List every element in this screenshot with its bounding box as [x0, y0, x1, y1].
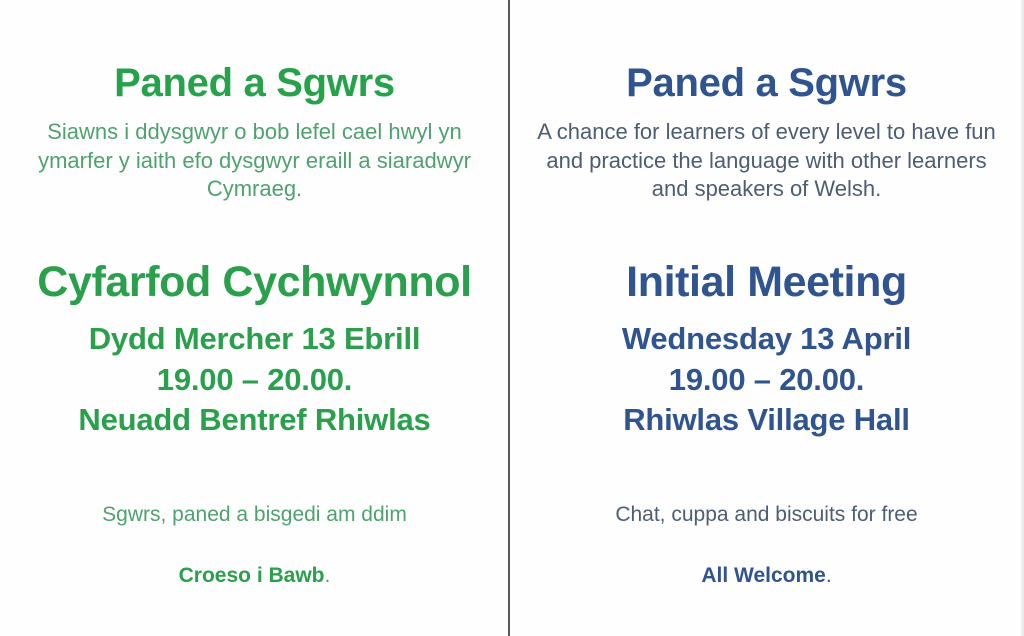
welsh-note-text: Sgwrs, paned a bisgedi am ddim: [102, 502, 407, 527]
english-note-text: Chat, cuppa and biscuits for free: [615, 502, 917, 527]
bilingual-poster: Paned a Sgwrs Siawns i ddysgwyr o bob le…: [0, 0, 1024, 636]
welsh-column: Paned a Sgwrs Siawns i ddysgwyr o bob le…: [0, 0, 509, 636]
english-column: Paned a Sgwrs A chance for learners of e…: [509, 0, 1024, 636]
english-welcome-label: All Welcome: [701, 564, 825, 587]
english-intro-text: A chance for learners of every level to …: [532, 118, 1002, 204]
welsh-welcome-label: Croeso i Bawb: [179, 564, 325, 587]
welsh-meeting-title: Cyfarfod Cychwynnol: [37, 260, 471, 306]
english-meeting-date: Wednesday 13 April: [622, 319, 911, 359]
english-meeting-time: 19.00 – 20.00.: [669, 360, 864, 400]
english-meeting-venue: Rhiwlas Village Hall: [623, 400, 910, 440]
english-welcome-period: .: [826, 564, 832, 587]
welsh-meeting-date: Dydd Mercher 13 Ebrill: [89, 319, 421, 359]
welsh-welcome-text: Croeso i Bawb.: [179, 563, 331, 588]
english-meeting-title: Initial Meeting: [626, 260, 907, 306]
welsh-welcome-period: .: [325, 564, 331, 587]
welsh-meeting-time: 19.00 – 20.00.: [157, 360, 352, 400]
english-title: Paned a Sgwrs: [626, 62, 907, 104]
english-welcome-text: All Welcome.: [701, 563, 831, 588]
welsh-title: Paned a Sgwrs: [114, 62, 395, 104]
welsh-meeting-venue: Neuadd Bentref Rhiwlas: [78, 400, 430, 440]
welsh-intro-text: Siawns i ddysgwyr o bob lefel cael hwyl …: [16, 118, 494, 204]
